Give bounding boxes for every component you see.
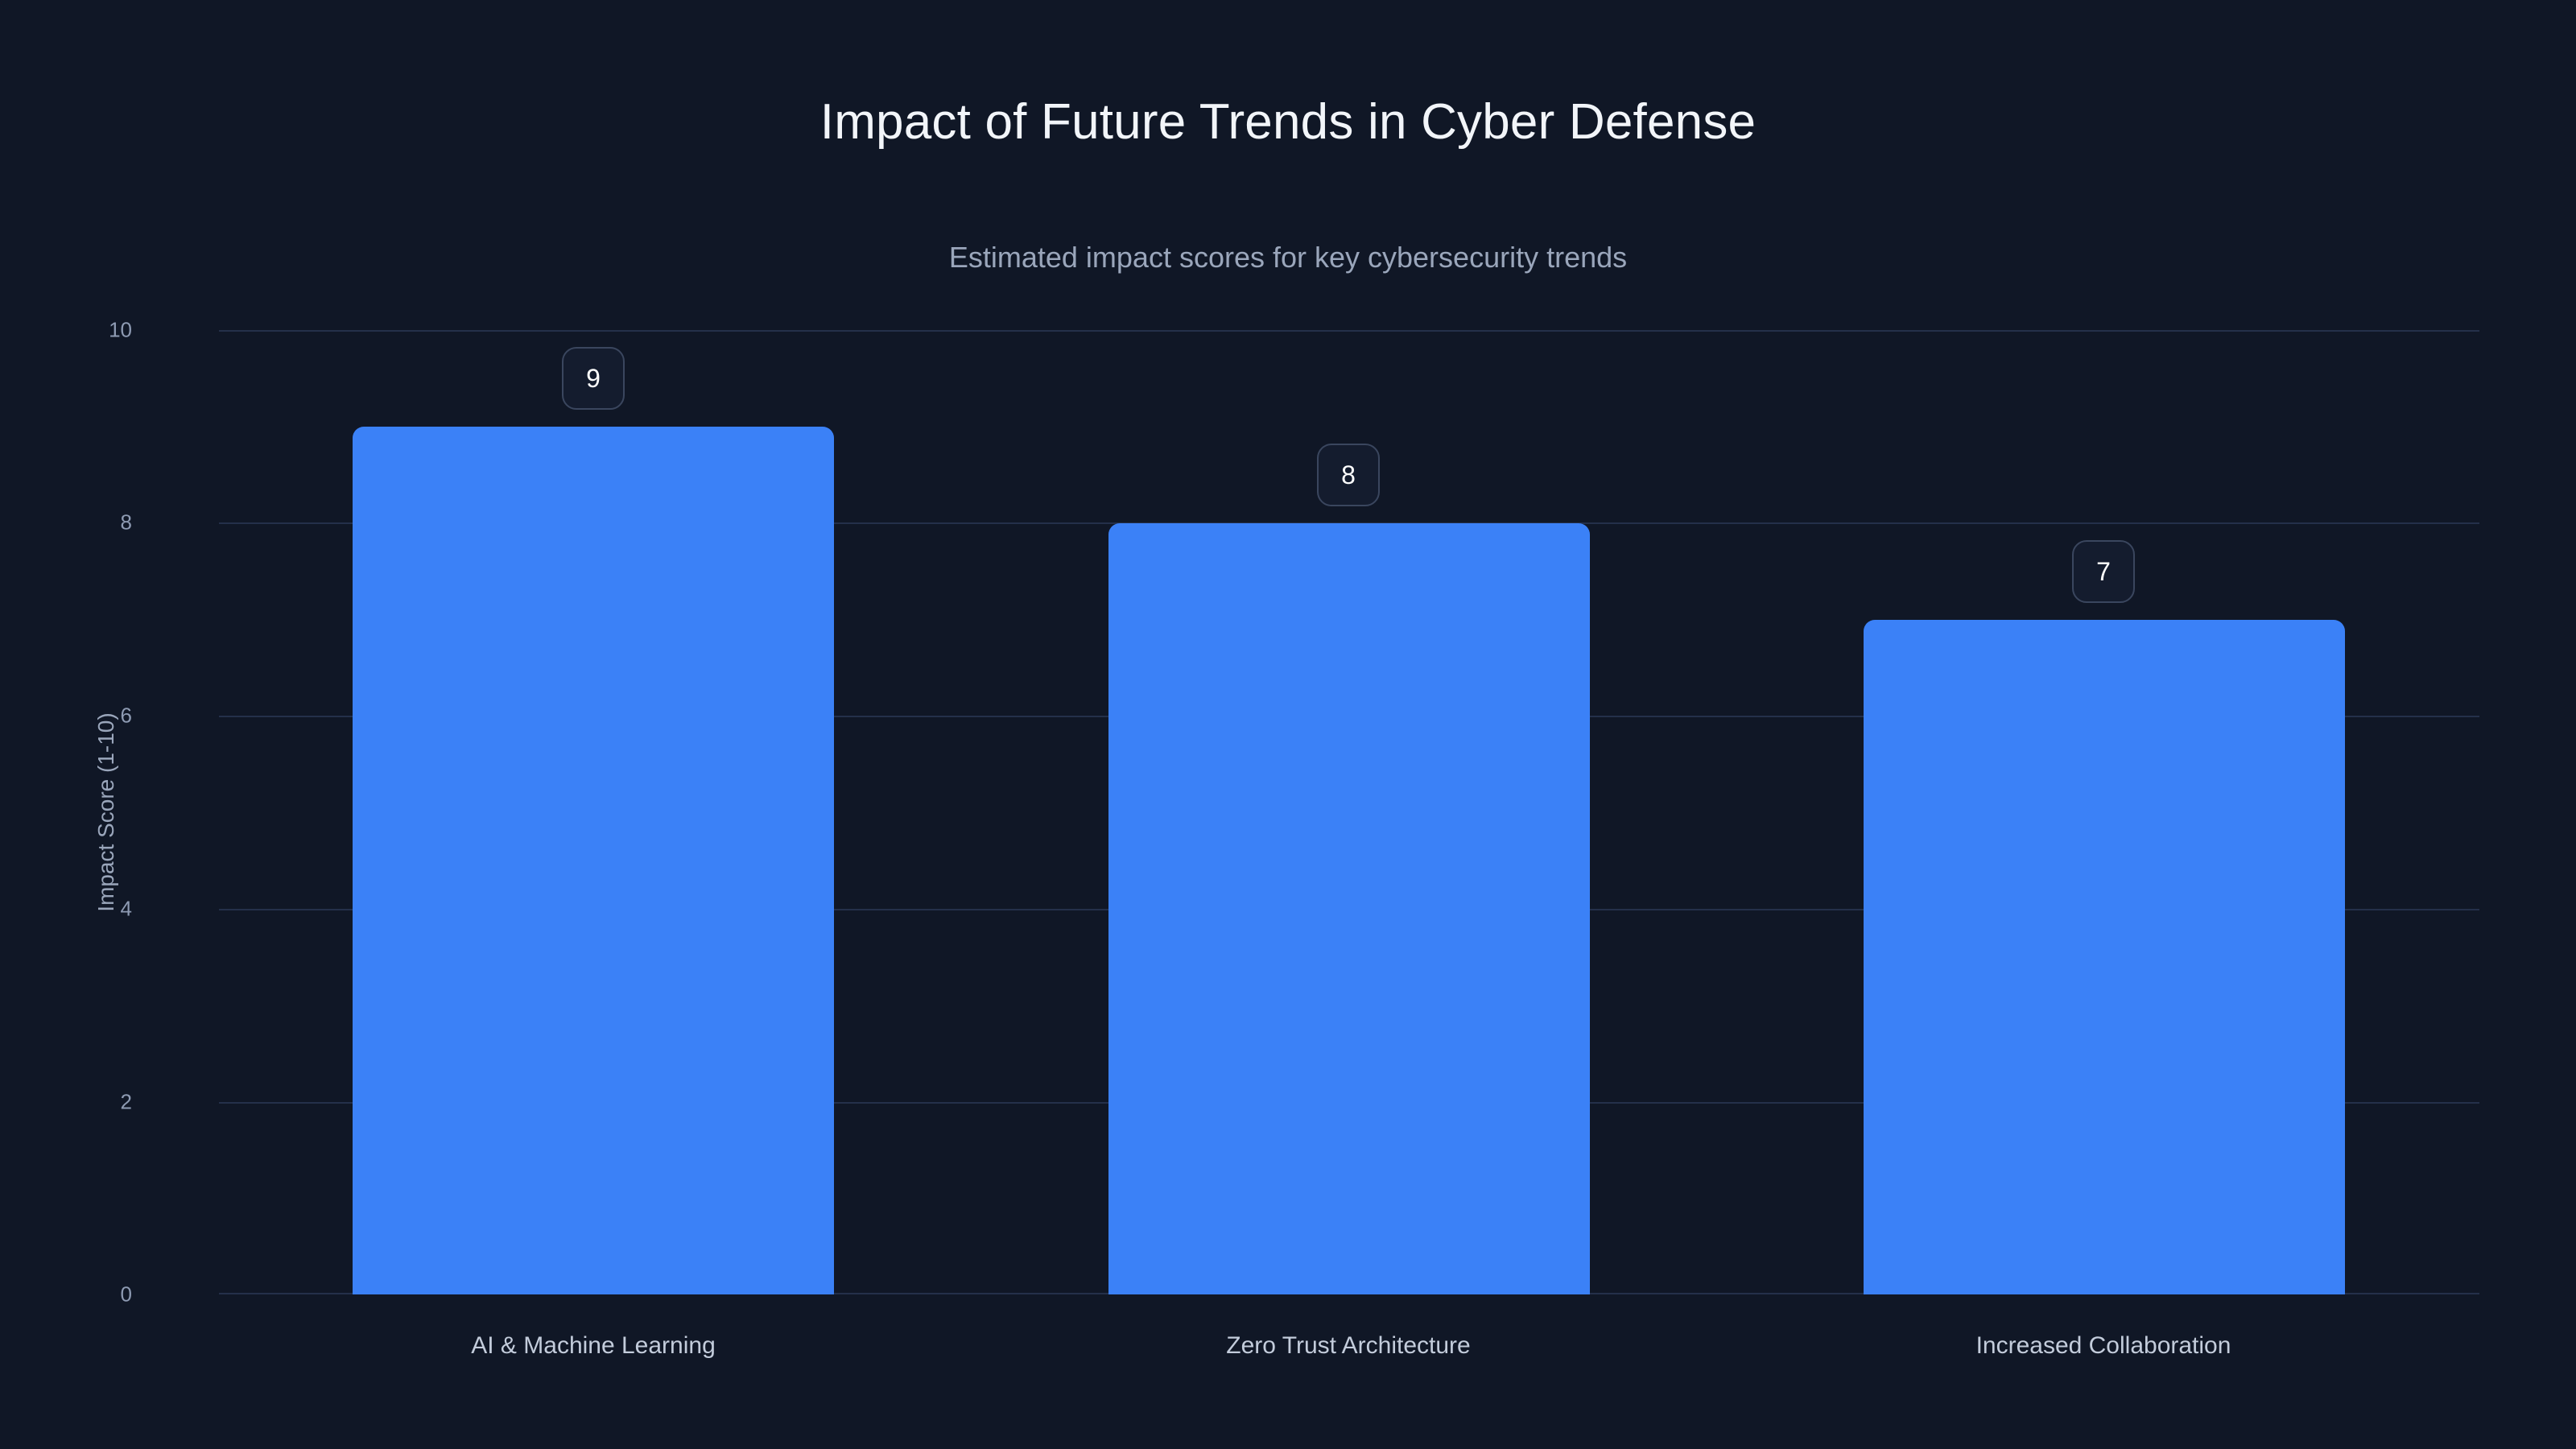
y-tick-label-4: 4 — [35, 897, 132, 922]
bar-chart: Impact of Future Trends in Cyber Defense… — [0, 0, 2576, 1449]
x-category-label-ai-machine-learning: AI & Machine Learning — [471, 1332, 716, 1360]
bar-ai-machine-learning[interactable] — [353, 427, 834, 1294]
chart-subtitle: Estimated impact scores for key cybersec… — [0, 242, 2576, 274]
x-category-label-increased-collaboration: Increased Collaboration — [1976, 1332, 2231, 1360]
value-badge-zero-trust-architecture: 8 — [1317, 444, 1380, 506]
x-category-label-zero-trust-architecture: Zero Trust Architecture — [1226, 1332, 1470, 1360]
y-axis-title: Impact Score (1-10) — [93, 712, 119, 911]
y-tick-label-8: 8 — [35, 510, 132, 535]
value-badge-ai-machine-learning: 9 — [562, 347, 625, 410]
y-tick-label-6: 6 — [35, 704, 132, 729]
bar-zero-trust-architecture[interactable] — [1108, 523, 1590, 1294]
bar-increased-collaboration[interactable] — [1864, 620, 2345, 1294]
value-badge-increased-collaboration: 7 — [2072, 540, 2135, 603]
y-tick-label-2: 2 — [35, 1090, 132, 1115]
y-tick-label-10: 10 — [35, 318, 132, 343]
chart-title: Impact of Future Trends in Cyber Defense — [0, 95, 2576, 150]
gridline-10 — [219, 330, 2479, 332]
y-tick-label-0: 0 — [35, 1282, 132, 1307]
